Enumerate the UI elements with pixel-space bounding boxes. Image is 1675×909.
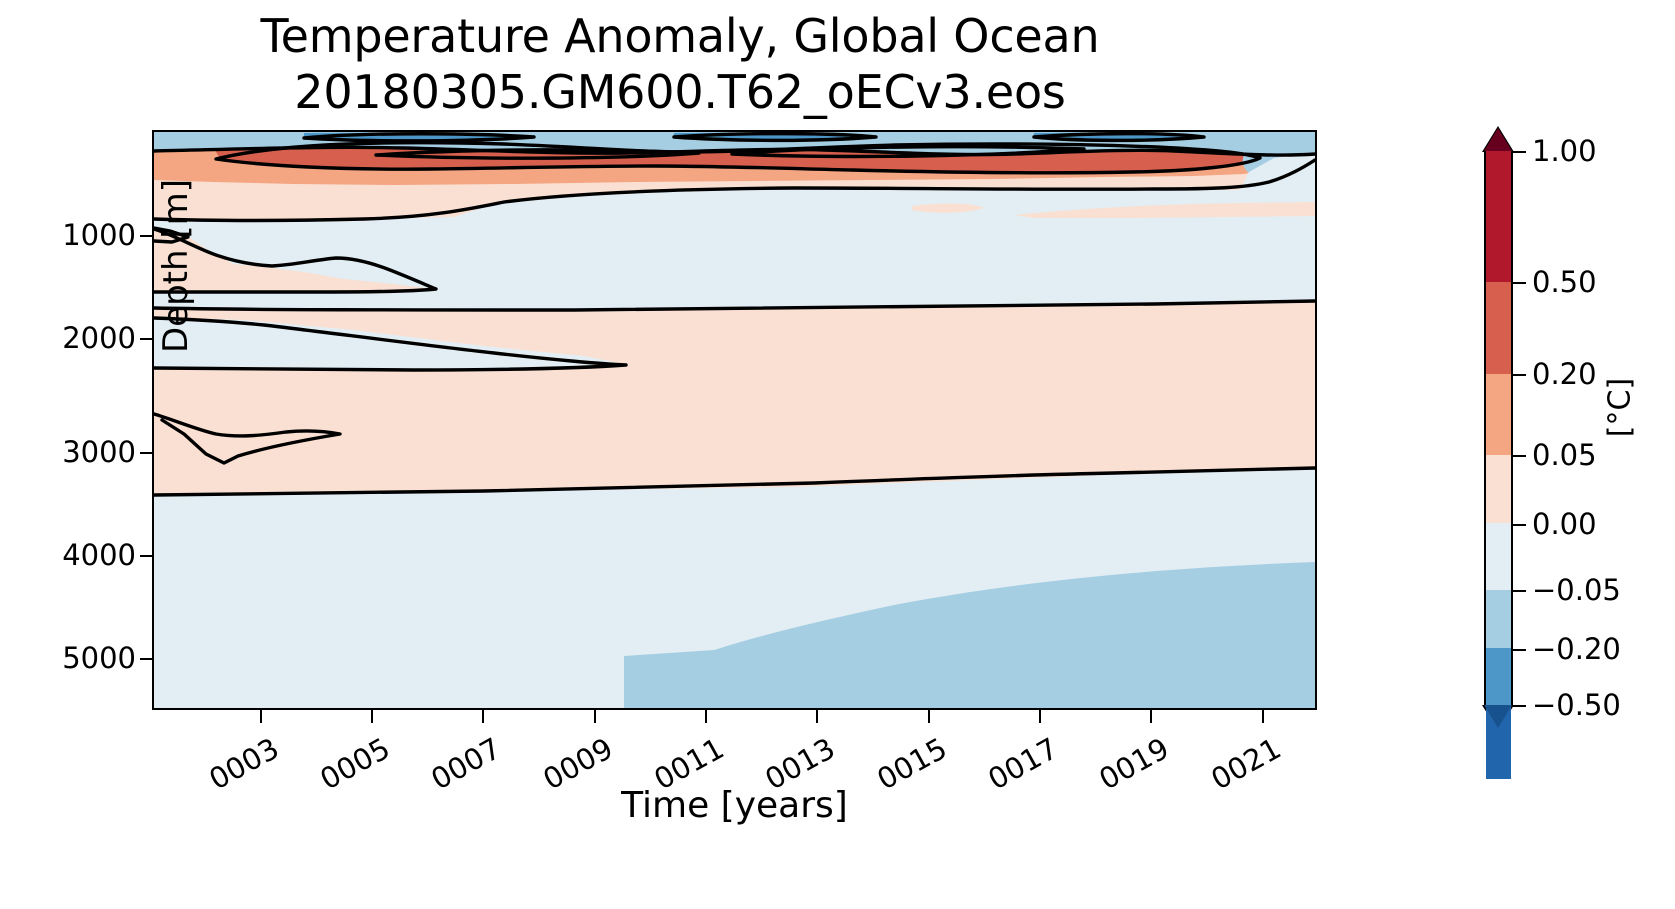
colorbar-tick-5 [1513, 524, 1526, 526]
colorbar-tick-4 [1513, 455, 1526, 457]
colorbar-tick-label-8: −0.50 [1532, 688, 1621, 722]
y-axis-title: Depth [m] [156, 86, 196, 446]
plot-axes [152, 130, 1317, 710]
y-tick-1000 [140, 235, 152, 237]
y-tick-4000 [140, 555, 152, 557]
x-tick-0007 [482, 710, 484, 723]
colorbar-tick-label-4: 0.05 [1532, 438, 1597, 472]
y-tick-label-3000: 3000 [58, 435, 136, 469]
y-axis-title-text: Depth [m] [156, 179, 196, 353]
colorbar-tick-label-3: 0.20 [1532, 357, 1597, 391]
colorbar-title-text: [°C] [1603, 378, 1638, 437]
y-tick-5000 [140, 658, 152, 660]
x-tick-0019 [1150, 710, 1152, 723]
y-tick-2000 [140, 338, 152, 340]
x-tick-0021 [1262, 710, 1264, 723]
x-tick-0017 [1039, 710, 1041, 723]
y-tick-label-5000: 5000 [58, 641, 136, 675]
colorbar-segment-050-100 [1486, 151, 1511, 282]
colorbar-tick-7 [1513, 649, 1526, 651]
x-tick-0013 [816, 710, 818, 723]
colorbar-segment-neg020-neg005 [1486, 590, 1511, 649]
colorbar-segment-020-050 [1486, 282, 1511, 374]
colorbar-tick-2 [1513, 282, 1526, 284]
x-tick-0003 [260, 710, 262, 723]
colorbar-tick-label-7: −0.20 [1532, 632, 1621, 666]
figure-canvas: Temperature Anomaly, Global Ocean 201803… [0, 0, 1675, 909]
colorbar[interactable] [1484, 151, 1513, 705]
colorbar-extend-max-arrow [1484, 128, 1512, 151]
colorbar-segment-005-020 [1486, 374, 1511, 455]
colorbar-title: [°C] [1603, 308, 1638, 508]
colorbar-tick-6 [1513, 590, 1526, 592]
colorbar-tick-label-6: −0.05 [1532, 573, 1621, 607]
y-tick-label-2000: 2000 [58, 321, 136, 355]
y-tick-label-4000: 4000 [58, 538, 136, 572]
colorbar-segment-neg005-000 [1486, 523, 1511, 589]
y-tick-3000 [140, 452, 152, 454]
y-tick-label-1000: 1000 [58, 218, 136, 252]
x-tick-0015 [928, 710, 930, 723]
colorbar-tick-label-1: 1.00 [1532, 134, 1597, 168]
x-tick-0011 [705, 710, 707, 723]
colorbar-tick-1 [1513, 151, 1526, 153]
colorbar-segment-000-005 [1486, 455, 1511, 524]
contour-plot [154, 132, 1315, 708]
figure-title-line-2: 20180305.GM600.T62_oECv3.eos [0, 64, 1360, 120]
x-tick-0009 [594, 710, 596, 723]
colorbar-tick-8 [1513, 705, 1526, 707]
colorbar-tick-label-5: 0.00 [1532, 507, 1597, 541]
figure-title: Temperature Anomaly, Global Ocean 201803… [0, 8, 1360, 120]
colorbar-segment-neg050-neg020 [1486, 648, 1511, 707]
colorbar-extend-min-arrow [1484, 705, 1512, 728]
colorbar-tick-label-2: 0.50 [1532, 265, 1597, 299]
x-tick-0005 [371, 710, 373, 723]
x-axis-title: Time [years] [152, 785, 1317, 826]
figure-title-line-1: Temperature Anomaly, Global Ocean [0, 8, 1360, 64]
colorbar-tick-3 [1513, 374, 1526, 376]
